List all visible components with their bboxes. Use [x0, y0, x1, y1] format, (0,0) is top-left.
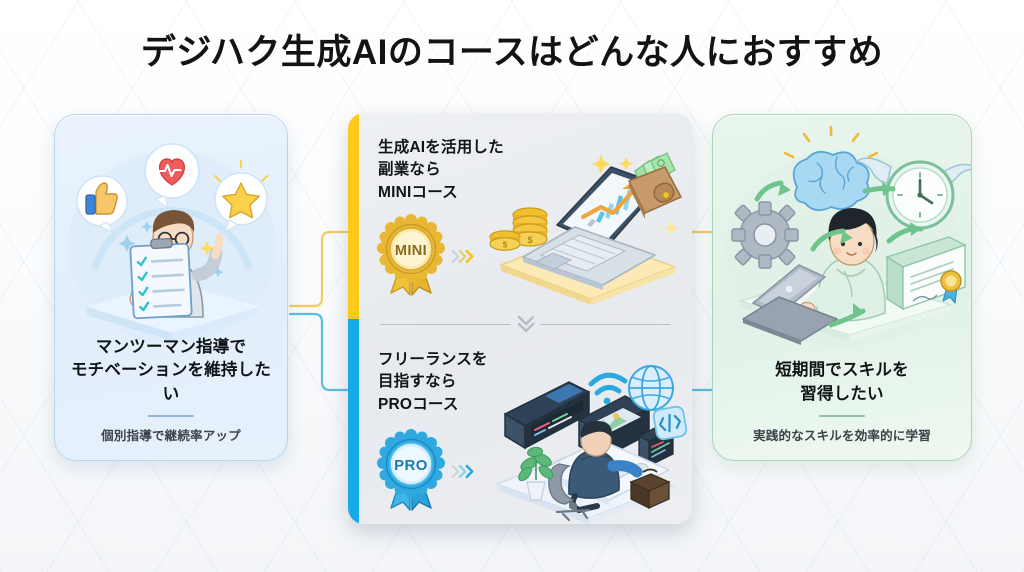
pro-badge-icon: PRO	[377, 432, 445, 510]
mini-course-block[interactable]: 生成AIを活用した 副業なら MINIコース	[359, 113, 692, 309]
left-card-divider	[148, 415, 194, 417]
gear-icon	[732, 202, 798, 268]
pro-course-heading: フリーランスを 目指すなら PROコース	[378, 349, 488, 416]
certificate-ribbon-icon	[941, 271, 961, 303]
pro-chevron-icons	[453, 464, 474, 479]
mini-chevron-icons	[453, 249, 474, 264]
mini-course-illustration: $ $	[483, 133, 688, 303]
connector-left-blue	[290, 314, 348, 390]
right-card-title: 短期間でスキルを 習得したい	[721, 359, 963, 406]
pro-badge-group: PRO	[377, 432, 474, 510]
mini-badge-group: MINI	[377, 217, 474, 295]
pro-course-block[interactable]: フリーランスを 目指すなら PROコース	[359, 325, 692, 524]
svg-text:MINI: MINI	[395, 243, 427, 259]
left-persona-card[interactable]: マンツーマン指導で モチベーションを維持したい 個別指導で継続率アップ	[54, 114, 288, 461]
svg-text:PRO: PRO	[394, 457, 428, 474]
right-card-divider	[819, 415, 865, 417]
globe-icon	[629, 366, 673, 410]
center-course-panel[interactable]: 生成AIを活用した 副業なら MINIコース	[348, 113, 692, 524]
accent-bar-yellow	[348, 113, 359, 319]
right-card-illustration	[713, 129, 971, 349]
page-title: デジハク生成AIのコースはどんな人におすすめ	[0, 24, 1024, 75]
left-card-text: マンツーマン指導で モチベーションを維持したい 個別指導で継続率アップ	[63, 336, 279, 444]
left-card-illustration	[55, 129, 287, 349]
right-card-subtitle: 実践的なスキルを効率的に学習	[721, 425, 963, 444]
right-card-text: 短期間でスキルを 習得したい 実践的なスキルを効率的に学習	[721, 359, 963, 444]
accent-bar-blue	[348, 319, 359, 525]
svg-text:$: $	[527, 235, 532, 245]
code-monitor-icon	[505, 382, 589, 448]
code-brackets-icon	[653, 406, 688, 441]
right-persona-card[interactable]: 短期間でスキルを 習得したい 実践的なスキルを効率的に学習	[712, 114, 972, 461]
mini-badge-icon: MINI	[377, 217, 445, 295]
left-card-subtitle: 個別指導で継続率アップ	[63, 425, 279, 444]
pro-course-illustration	[483, 348, 688, 518]
svg-text:$: $	[503, 241, 508, 250]
connector-left-yellow	[290, 232, 348, 306]
left-card-title: マンツーマン指導で モチベーションを維持したい	[63, 336, 279, 406]
brain-icon	[785, 127, 877, 210]
coin-stack-icons: $ $	[490, 208, 547, 250]
clipboard-checklist-icon	[130, 238, 192, 318]
center-accent-bar	[348, 113, 359, 524]
